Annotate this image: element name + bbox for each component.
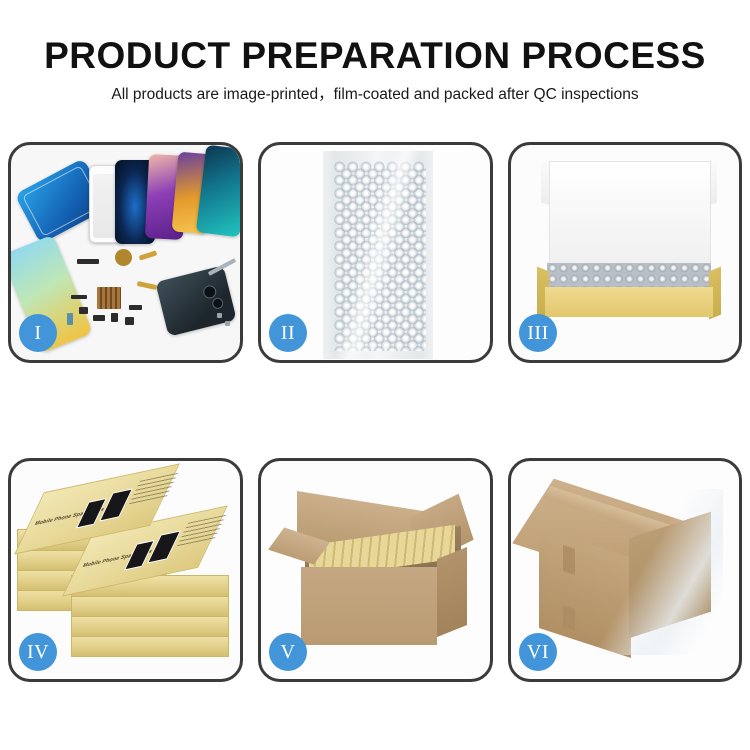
- small-part-a: [71, 295, 87, 299]
- small-part-c: [93, 315, 105, 321]
- step-badge-6: VI: [519, 633, 557, 671]
- small-part-d: [111, 313, 118, 322]
- stacked-box-r4: [71, 615, 229, 637]
- sealed-carton-film-highlight: [527, 489, 723, 655]
- small-part-g: [67, 313, 73, 325]
- step-panel-3: III: [508, 142, 742, 363]
- gold-speaker-part: [115, 249, 132, 266]
- small-part-f: [129, 305, 142, 310]
- page-subtitle: All products are image-printed，film-coat…: [0, 84, 750, 106]
- box-spec-lines-back: [128, 473, 178, 506]
- carton-front-panel: [301, 567, 437, 645]
- grid-chip-part: [97, 287, 121, 309]
- step-panel-6: VI: [508, 458, 742, 682]
- small-part-b: [79, 307, 88, 314]
- step-panel-5: V: [258, 458, 493, 682]
- step-badge-5: V: [269, 633, 307, 671]
- step-badge-3: III: [519, 314, 557, 352]
- kraft-tray-front: [545, 287, 713, 317]
- process-steps-grid: I II III: [8, 142, 742, 682]
- flex-cable-part-b: [137, 281, 158, 290]
- step-badge-4: IV: [19, 633, 57, 671]
- black-bar-part: [77, 259, 99, 264]
- camera-lens-secondary-icon: [211, 297, 224, 310]
- step-panel-4: Mobile Phone Spare Parts Mobile Phone Sp…: [8, 458, 243, 682]
- step-panel-2: II: [258, 142, 493, 363]
- small-part-e: [125, 317, 134, 325]
- box-spec-lines-front: [176, 515, 226, 548]
- carton-side-panel: [437, 547, 467, 637]
- stacked-box-r5: [71, 635, 229, 657]
- stacked-box-r3: [71, 595, 229, 617]
- page-title: PRODUCT PREPARATION PROCESS: [0, 34, 750, 78]
- wrap-highlight: [323, 151, 433, 359]
- step-badge-1: I: [19, 314, 57, 352]
- flex-cable-part-a: [139, 250, 158, 260]
- step-panel-1: I: [8, 142, 243, 363]
- bubble-wrapped-contents: [547, 263, 711, 289]
- screw-part-a: [217, 313, 222, 318]
- page-header: PRODUCT PREPARATION PROCESS All products…: [0, 34, 750, 106]
- product-preparation-page: PRODUCT PREPARATION PROCESS All products…: [0, 0, 750, 750]
- phone-back-housing: [155, 265, 236, 336]
- box-lid-back: [549, 161, 711, 267]
- step-badge-2: II: [269, 314, 307, 352]
- screw-part-b: [225, 321, 230, 326]
